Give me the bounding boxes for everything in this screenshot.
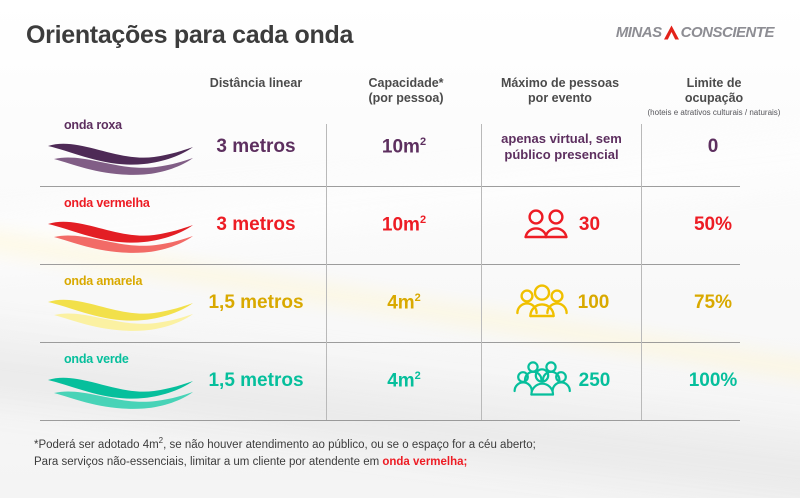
cell-capacidade-value: 4m — [387, 292, 414, 313]
cell-capacidade: 4m2 — [327, 342, 481, 420]
cell-capacidade-value: 10m — [382, 136, 420, 157]
cell-limite: 0 — [642, 108, 784, 186]
cell-maximo: apenas virtual, sem público presencial — [482, 108, 641, 186]
footnote-line-1-b: , se não houver atendimento ao público, … — [163, 439, 536, 451]
column-header-distancia-label: Distância linear — [210, 76, 302, 90]
wave-label: onda amarela — [64, 274, 142, 288]
wave-label: onda roxa — [64, 118, 122, 132]
wave-label: onda verde — [64, 352, 129, 366]
column-divider — [326, 124, 327, 420]
footnote-line-2-a: Para serviços não-essenciais, limitar a … — [34, 456, 382, 468]
people-5-icon — [513, 360, 571, 402]
footnote-line-1: *Poderá ser adotado 4m2, se não houver a… — [34, 432, 774, 454]
cell-capacidade-sup: 2 — [415, 292, 421, 304]
table-row: onda amarela 1,5 metros 4m2 — [0, 264, 800, 342]
footnote-line-2: Para serviços não-essenciais, limitar a … — [34, 454, 774, 471]
cell-maximo: 250 — [482, 342, 641, 420]
column-divider — [481, 124, 482, 420]
table-row: onda roxa 3 metros 10m2 apenas virtual, … — [0, 108, 800, 186]
column-header-maximo-line2: por evento — [528, 91, 592, 105]
cell-capacidade-sup: 2 — [420, 214, 426, 226]
triangle-mark-icon — [663, 25, 680, 40]
cell-maximo-count: 250 — [579, 373, 611, 389]
cell-capacidade-sup: 2 — [415, 370, 421, 382]
column-header-capacidade: Capacidade* (por pessoa) — [340, 76, 472, 106]
row-divider — [40, 186, 740, 187]
wave-label: onda vermelha — [64, 196, 150, 210]
column-header-capacidade-line2: (por pessoa) — [368, 91, 443, 105]
footnote-line-2-highlight: onda vermelha; — [382, 456, 467, 468]
cell-distancia: 3 metros — [186, 186, 326, 264]
column-header-limite-label: Limite de — [687, 76, 742, 90]
wave-cell: onda roxa — [36, 108, 196, 186]
wave-cell: onda vermelha — [36, 186, 196, 264]
people-2-icon — [523, 207, 571, 243]
cell-capacidade: 10m2 — [327, 108, 481, 186]
column-header-distancia: Distância linear — [186, 76, 326, 91]
wave-cell: onda amarela — [36, 264, 196, 342]
logo-word-consciente: CONSCIENTE — [681, 24, 774, 41]
infographic-page: Orientações para cada onda MINAS CONSCIE… — [0, 0, 800, 498]
cell-capacidade-value: 4m — [387, 370, 414, 391]
row-divider — [40, 264, 740, 265]
cell-limite: 50% — [642, 186, 784, 264]
column-header-limite-line2: ocupação — [685, 91, 743, 105]
wave-swoosh-icon — [44, 288, 196, 334]
column-header-maximo-label: Máximo de pessoas — [501, 76, 619, 90]
wave-swoosh-icon — [44, 210, 196, 256]
cell-maximo-count: 100 — [578, 295, 610, 311]
cell-maximo: 30 — [482, 186, 641, 264]
brand-logo: MINAS CONSCIENTE — [616, 24, 774, 41]
logo-word-minas: MINAS — [616, 24, 662, 41]
cell-limite: 100% — [642, 342, 784, 420]
footnote-line-1-a: *Poderá ser adotado 4m — [34, 439, 159, 451]
cell-maximo-count: 30 — [579, 217, 600, 233]
row-divider — [40, 420, 740, 421]
cell-distancia: 1,5 metros — [186, 264, 326, 342]
cell-distancia: 1,5 metros — [186, 342, 326, 420]
wave-cell: onda verde — [36, 342, 196, 420]
table-row: onda vermelha 3 metros 10m2 — [0, 186, 800, 264]
cell-capacidade-sup: 2 — [420, 136, 426, 148]
wave-swoosh-icon — [44, 366, 196, 412]
footnote: *Poderá ser adotado 4m2, se não houver a… — [34, 432, 774, 471]
cell-capacidade-value: 10m — [382, 214, 420, 235]
header: Orientações para cada onda MINAS CONSCIE… — [26, 18, 774, 58]
cell-capacidade: 4m2 — [327, 264, 481, 342]
cell-limite: 75% — [642, 264, 784, 342]
cell-distancia: 3 metros — [186, 108, 326, 186]
column-header-maximo: Máximo de pessoas por evento — [482, 76, 638, 106]
cell-maximo: 100 — [482, 264, 641, 342]
cell-capacidade: 10m2 — [327, 186, 481, 264]
row-divider — [40, 342, 740, 343]
column-header-capacidade-label: Capacidade* — [368, 76, 443, 90]
wave-swoosh-icon — [44, 132, 196, 178]
people-3-icon — [514, 284, 570, 322]
column-divider — [641, 124, 642, 420]
table-row: onda verde 1,5 metros 4m2 — [0, 342, 800, 420]
